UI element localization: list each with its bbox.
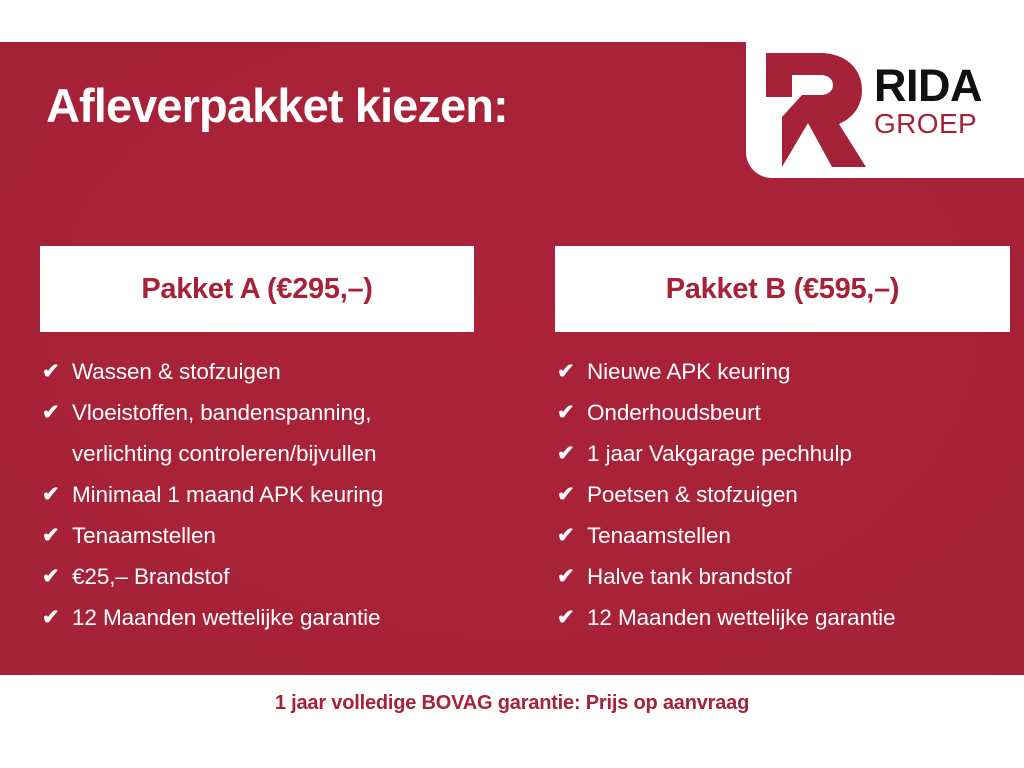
check-icon: ✔ — [557, 516, 587, 555]
check-icon: ✔ — [557, 434, 587, 473]
check-icon: ✔ — [557, 393, 587, 432]
list-item-label: Wassen & stofzuigen — [72, 352, 474, 393]
rida-r-monogram-icon — [758, 49, 870, 171]
list-item-label: 12 Maanden wettelijke garantie — [72, 598, 474, 639]
list-item: ✔ 1 jaar Vakgarage pechhulp — [557, 434, 1010, 475]
brand-name-primary: RIDA — [874, 64, 1024, 107]
check-icon: ✔ — [42, 393, 72, 432]
list-item-label: 12 Maanden wettelijke garantie — [587, 598, 1010, 639]
list-item-label: Poetsen & stofzuigen — [587, 475, 1010, 516]
list-item-label: Minimaal 1 maand APK keuring — [72, 475, 474, 516]
check-icon: ✔ — [42, 516, 72, 555]
list-item: ✔ Tenaamstellen — [42, 516, 474, 557]
check-icon: ✔ — [557, 475, 587, 514]
list-item: ✔ Tenaamstellen — [557, 516, 1010, 557]
check-icon: ✔ — [557, 598, 587, 637]
package-column-b: Pakket B (€595,–) ✔ Nieuwe APK keuring ✔… — [555, 246, 1010, 639]
check-icon: ✔ — [42, 598, 72, 637]
list-item: ✔ Minimaal 1 maand APK keuring — [42, 475, 474, 516]
list-item-label: Vloeistoffen, bandenspanning, verlichtin… — [72, 393, 474, 475]
slide-canvas: Afleverpakket kiezen: RIDA GROEP Pakket … — [0, 0, 1024, 768]
list-item: ✔ Halve tank brandstof — [557, 557, 1010, 598]
check-icon: ✔ — [557, 557, 587, 596]
list-item: ✔ Onderhoudsbeurt — [557, 393, 1010, 434]
footer-bar: 1 jaar volledige BOVAG garantie: Prijs o… — [0, 675, 1024, 768]
brand-name-secondary: GROEP — [874, 109, 1024, 138]
package-b-header[interactable]: Pakket B (€595,–) — [555, 246, 1010, 332]
list-item-label: Halve tank brandstof — [587, 557, 1010, 598]
list-item: ✔ €25,– Brandstof — [42, 557, 474, 598]
list-item-label: Tenaamstellen — [72, 516, 474, 557]
list-item: ✔ Poetsen & stofzuigen — [557, 475, 1010, 516]
list-item-label: Nieuwe APK keuring — [587, 352, 1010, 393]
list-item: ✔ 12 Maanden wettelijke garantie — [557, 598, 1010, 639]
list-item: ✔ Wassen & stofzuigen — [42, 352, 474, 393]
check-icon: ✔ — [42, 557, 72, 596]
check-icon: ✔ — [557, 352, 587, 391]
package-b-feature-list: ✔ Nieuwe APK keuring ✔ Onderhoudsbeurt ✔… — [555, 332, 1010, 639]
list-item: ✔ Vloeistoffen, bandenspanning, verlicht… — [42, 393, 474, 475]
brand-logo-panel: RIDA GROEP — [746, 42, 1024, 178]
check-icon: ✔ — [42, 352, 72, 391]
list-item-label: Onderhoudsbeurt — [587, 393, 1010, 434]
list-item: ✔ Nieuwe APK keuring — [557, 352, 1010, 393]
check-icon: ✔ — [42, 475, 72, 514]
list-item-label: Tenaamstellen — [587, 516, 1010, 557]
list-item-label: €25,– Brandstof — [72, 557, 474, 598]
list-item-label: 1 jaar Vakgarage pechhulp — [587, 434, 1010, 475]
package-a-header[interactable]: Pakket A (€295,–) — [40, 246, 474, 332]
package-a-title: Pakket A (€295,–) — [141, 273, 372, 306]
brand-logo-text: RIDA GROEP — [874, 64, 1024, 139]
package-a-feature-list: ✔ Wassen & stofzuigen ✔ Vloeistoffen, ba… — [40, 332, 474, 639]
footer-note: 1 jaar volledige BOVAG garantie: Prijs o… — [275, 692, 749, 715]
page-title: Afleverpakket kiezen: — [46, 78, 508, 133]
list-item: ✔ 12 Maanden wettelijke garantie — [42, 598, 474, 639]
package-b-title: Pakket B (€595,–) — [666, 273, 900, 306]
package-column-a: Pakket A (€295,–) ✔ Wassen & stofzuigen … — [40, 246, 474, 639]
red-slide-background: Afleverpakket kiezen: RIDA GROEP Pakket … — [0, 42, 1024, 675]
